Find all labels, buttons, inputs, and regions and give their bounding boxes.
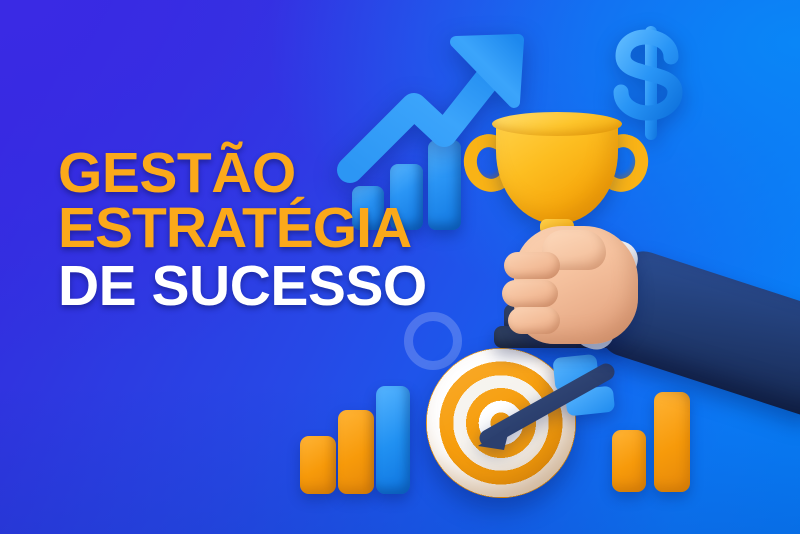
headline-line-3: DE SUCESSO <box>58 259 427 314</box>
bottom-left-bars-icon <box>300 386 410 494</box>
hand-holding-trophy-icon <box>498 222 648 362</box>
bl-bar-3 <box>376 386 410 494</box>
headline-line-1: GESTÃO <box>58 146 427 201</box>
headline-line-2: ESTRATÉGIA <box>58 201 427 256</box>
bl-bar-1 <box>300 436 336 494</box>
hand-finger-2 <box>502 280 558 307</box>
hand-finger-3 <box>508 307 560 334</box>
promo-banner: GESTÃO ESTRATÉGIA DE SUCESSO <box>0 0 800 534</box>
hand-finger-1 <box>504 252 560 279</box>
bl-bar-2 <box>338 410 374 494</box>
trophy-rim <box>492 112 622 136</box>
page-title: GESTÃO ESTRATÉGIA DE SUCESSO <box>58 146 427 314</box>
